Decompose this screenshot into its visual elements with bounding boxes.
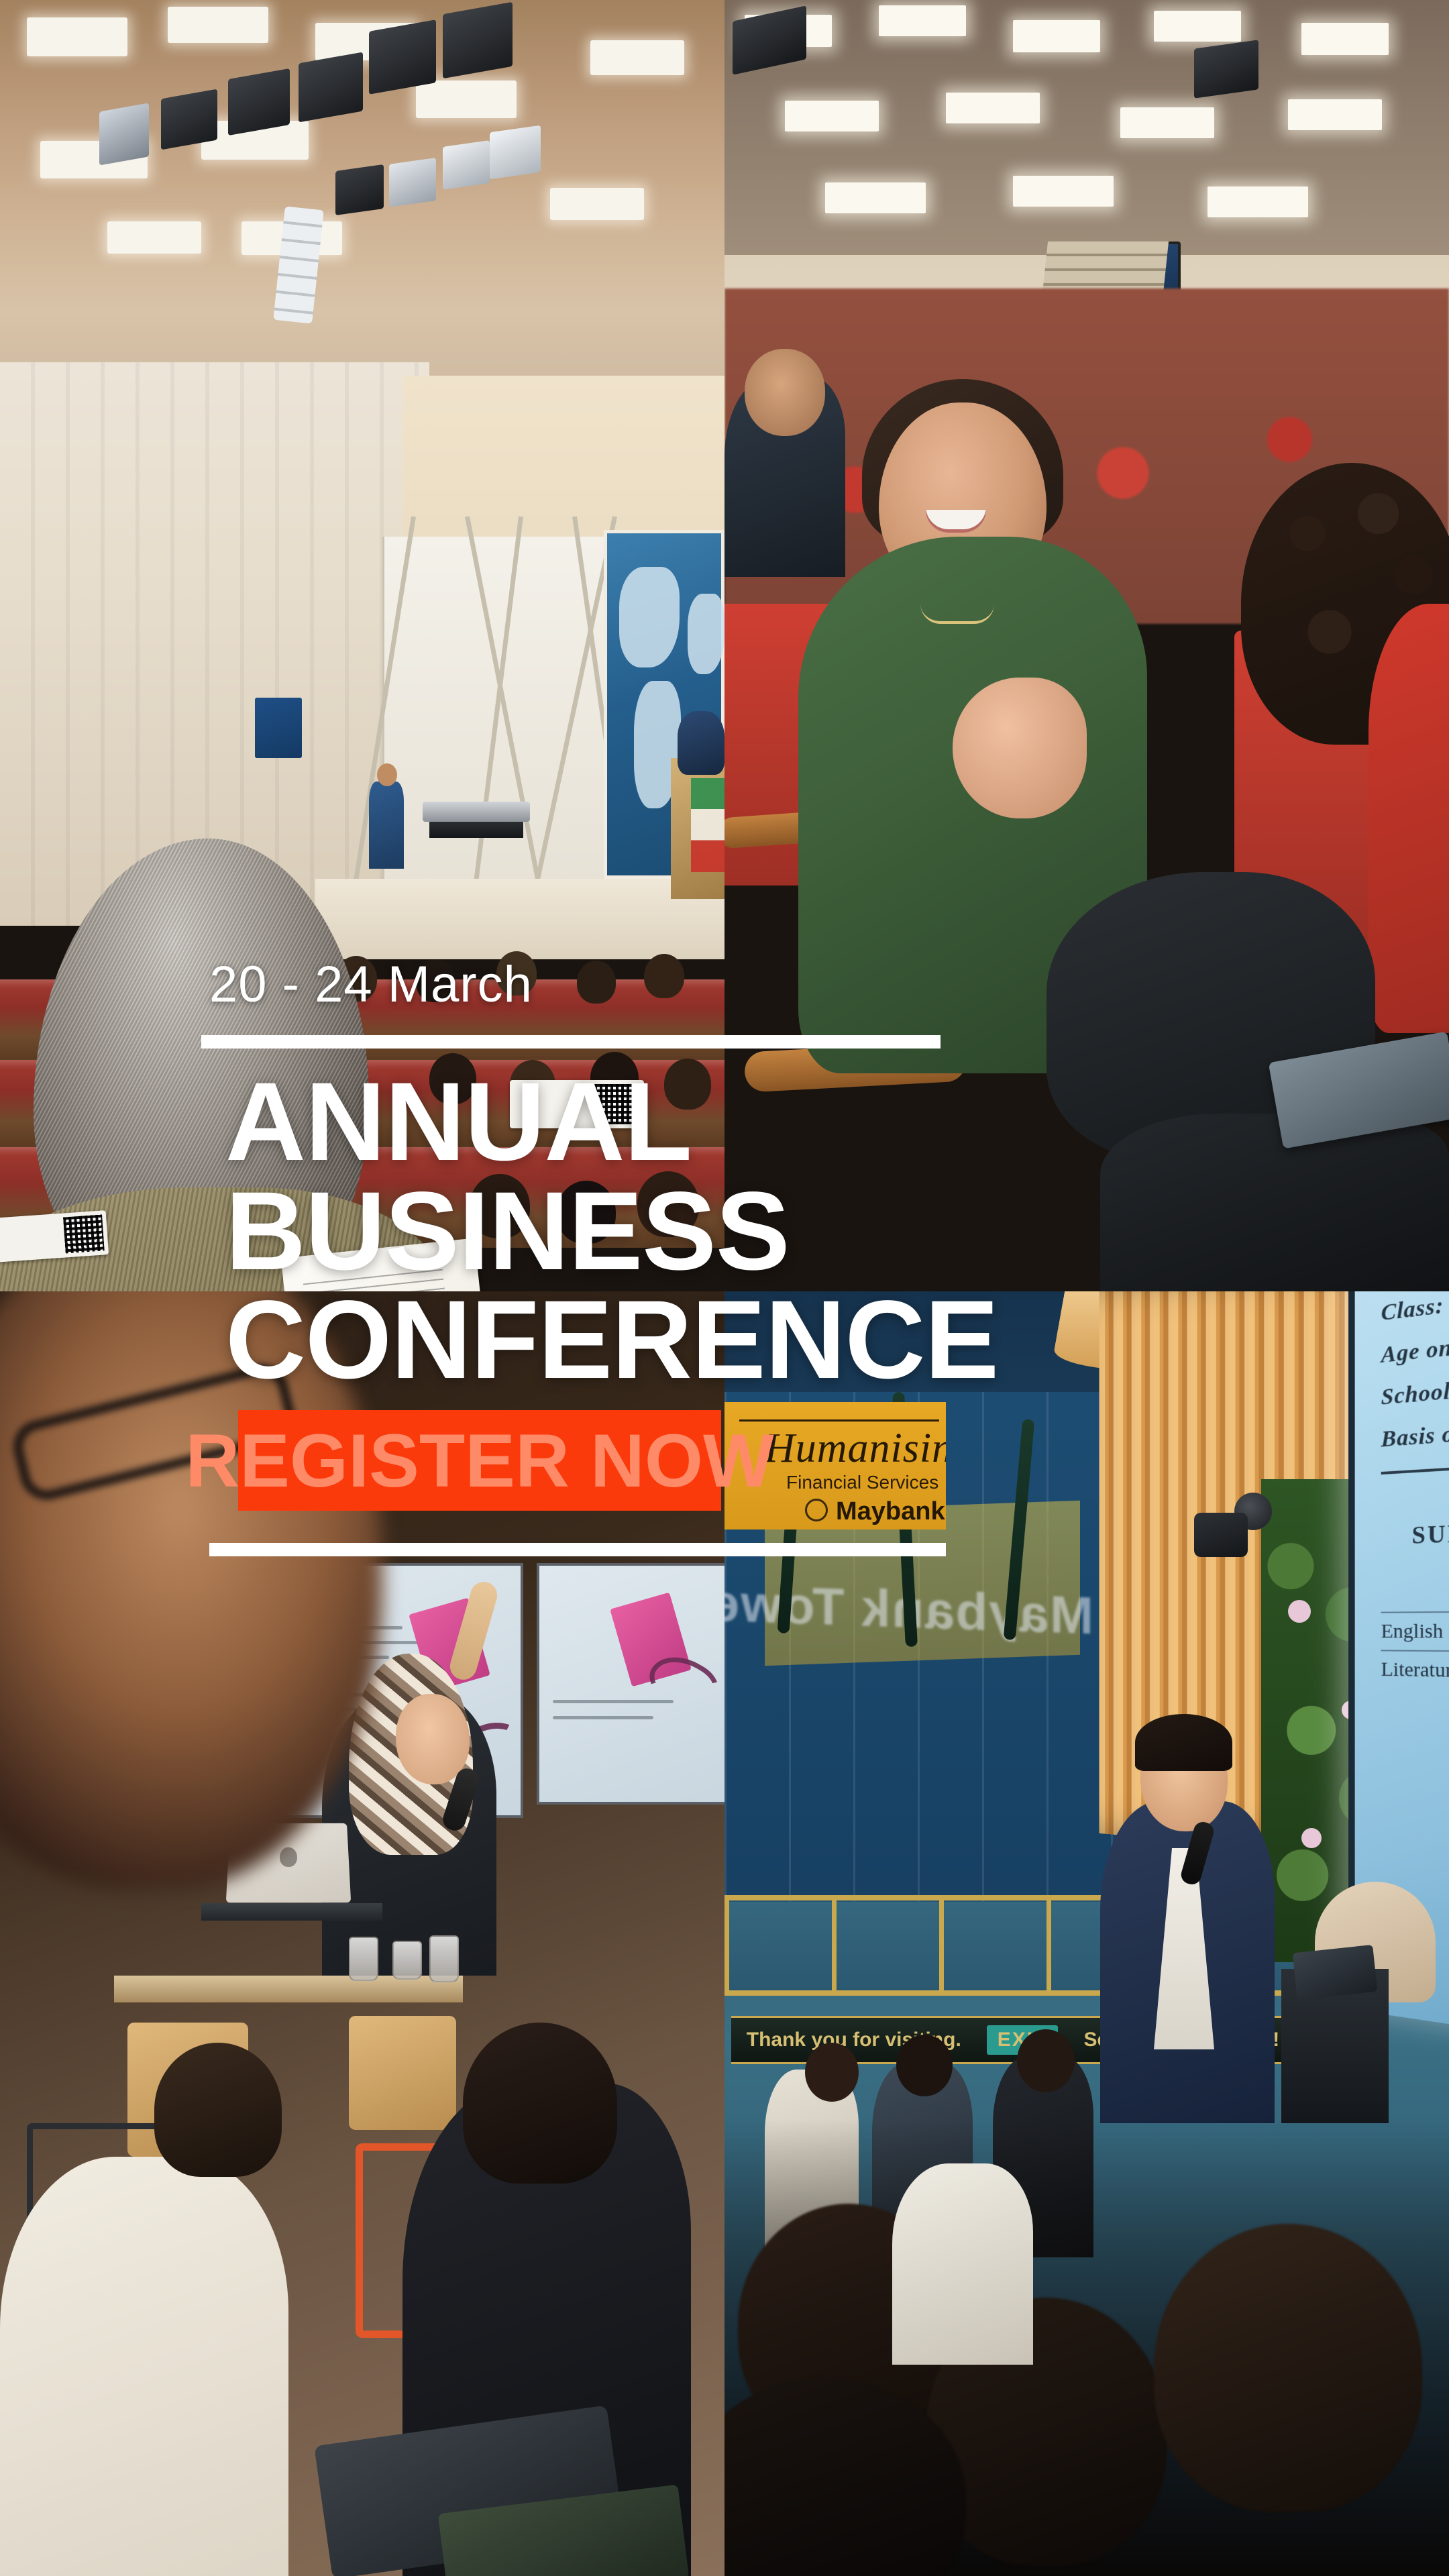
clapping-hands: [953, 678, 1087, 818]
stage-light: [389, 158, 436, 207]
foreground-white-shirt: [892, 2163, 1033, 2365]
neighbour-left-face: [745, 349, 825, 436]
notice-divider: [1381, 1463, 1449, 1474]
flag: [691, 778, 724, 872]
title-line-3: CONFERENCE: [225, 1286, 1446, 1395]
event-date: 20 - 24 March: [209, 955, 533, 1014]
attendee-head: [896, 2035, 953, 2096]
cup: [392, 1941, 422, 1980]
seated-attendee-light-shirt: [0, 2157, 288, 2576]
attendee-head: [1017, 2029, 1075, 2092]
attendee-head: [805, 2043, 859, 2102]
chair-back: [349, 2016, 456, 2130]
notice-row: English Languag: [1381, 1611, 1449, 1650]
stage-light: [369, 19, 436, 95]
stage-light: [1194, 40, 1258, 98]
seat-qr-tag: [0, 1210, 109, 1263]
wall-sign: [255, 698, 302, 758]
register-now-button[interactable]: REGISTER NOW: [238, 1410, 721, 1511]
title-line-1: ANNUAL: [225, 1068, 1446, 1177]
necklace: [920, 604, 994, 624]
maybank-tower-sign: Maybank Tower: [771, 1574, 1093, 1647]
cup: [349, 1937, 378, 1981]
front-table: [114, 1976, 463, 2002]
stage-person: [369, 782, 404, 869]
attendee-hair: [154, 2043, 282, 2177]
maybank-tagline-sub: Financial Services: [786, 1472, 938, 1493]
page-title: ANNUAL BUSINESS CONFERENCE: [225, 1068, 1446, 1395]
maybank-brand: Maybank: [836, 1497, 945, 1526]
divider-top: [201, 1035, 941, 1049]
presenter-hair: [1135, 1714, 1232, 1771]
neighbour-red-top: [1368, 604, 1449, 1033]
cup: [429, 1935, 459, 1982]
attendee-hair: [463, 2023, 617, 2184]
poster-root: Maybank Tower Thank you for visiting. EX…: [0, 0, 1449, 2576]
stage-light: [490, 125, 541, 180]
maybank-tagline-script: Humanising: [765, 1425, 946, 1472]
tablet-device: [1293, 1945, 1378, 2000]
stage-light: [99, 103, 149, 165]
desk: [201, 1903, 382, 1921]
speaker-box: [1194, 1513, 1248, 1557]
maybank-tiger-logo-icon: [805, 1499, 828, 1521]
speaker-at-podium: [678, 711, 724, 775]
stage-light: [161, 89, 217, 150]
register-now-label: REGISTER NOW: [185, 1417, 773, 1504]
stage-person-head: [377, 763, 397, 786]
keyboard-stand: [429, 822, 523, 838]
stage-light: [443, 140, 490, 190]
stage-light: [299, 52, 363, 123]
divider-bottom: [209, 1543, 946, 1556]
notice-section-heading: SUBJEC: [1412, 1517, 1449, 1550]
stage-light: [443, 2, 513, 78]
title-line-2: BUSINESS: [225, 1177, 1446, 1287]
stage-light: [228, 68, 290, 136]
stage-light: [335, 164, 384, 215]
foreground-head: [1154, 2224, 1422, 2512]
notice-row: Literature: [1381, 1650, 1449, 1690]
keyboard: [423, 802, 530, 822]
notice-line: Basis of Eli: [1381, 1417, 1449, 1453]
whiteboard-right: [537, 1563, 724, 1805]
